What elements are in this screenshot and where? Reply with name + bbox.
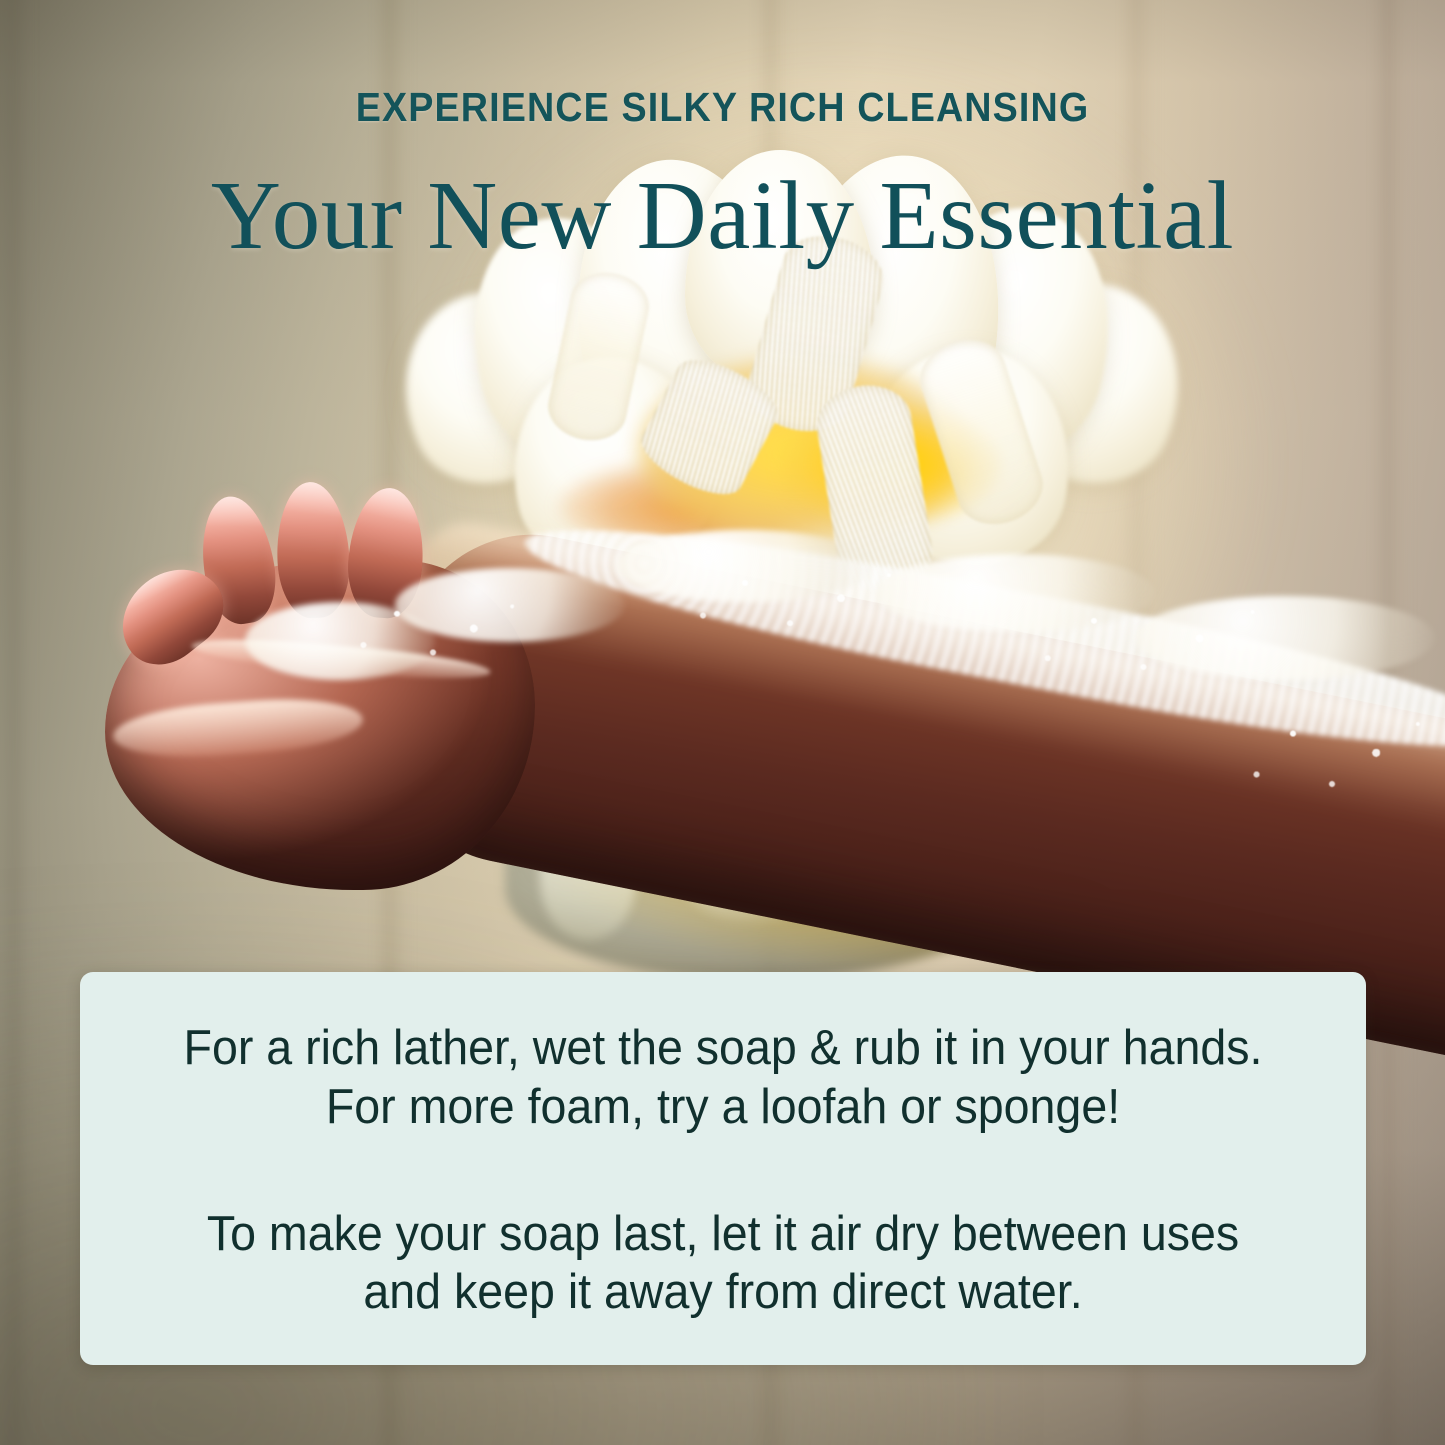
instructions-card: For a rich lather, wet the soap & rub it… bbox=[80, 972, 1366, 1365]
forearm-and-hand bbox=[95, 470, 1445, 1030]
foam-bubbles bbox=[995, 590, 1325, 700]
foam-bubbles bbox=[655, 556, 955, 652]
eyebrow-text: EXPERIENCE SILKY RICH CLEANSING bbox=[58, 84, 1387, 131]
product-lifestyle-banner: EXPERIENCE SILKY RICH CLEANSING Your New… bbox=[0, 0, 1445, 1445]
page-title: Your New Daily Essential bbox=[0, 166, 1445, 267]
foam-bubbles bbox=[325, 588, 565, 680]
instruction-paragraph-lather: For a rich lather, wet the soap & rub it… bbox=[167, 1019, 1279, 1137]
instruction-paragraph-care: To make your soap last, let it air dry b… bbox=[167, 1205, 1279, 1323]
